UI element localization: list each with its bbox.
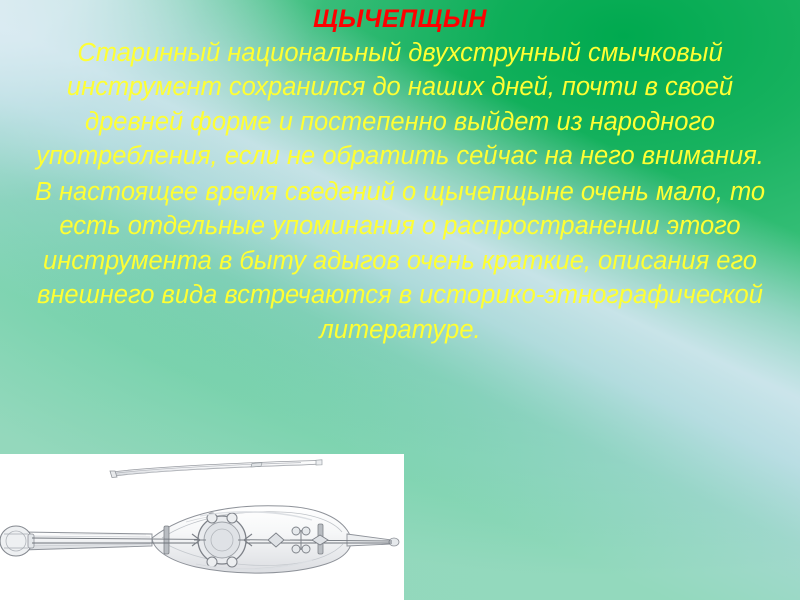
end-pin	[389, 538, 399, 546]
slide-content: ЩЫЧЕПЩЫН Старинный национальный двухстру…	[0, 0, 800, 347]
body-paragraph-1: Старинный национальный двухструнный смыч…	[0, 35, 800, 174]
nut	[28, 534, 34, 548]
bow-grip	[251, 463, 262, 467]
rosette-dot-top-right	[227, 513, 237, 523]
bow-group	[110, 460, 322, 478]
body-paragraph-2: В настоящее время сведений о щычепщыне о…	[0, 174, 800, 348]
tail-spike	[347, 534, 392, 546]
inlay-cluster	[290, 527, 312, 553]
bow-tip	[316, 460, 322, 465]
instrument-group	[0, 506, 399, 573]
pegbox	[0, 526, 32, 556]
rosette-dot-bottom-right	[227, 557, 237, 567]
instrument-picture	[0, 454, 404, 600]
slide-title: ЩЫЧЕПЩЫН	[0, 0, 800, 35]
upper-bridge	[164, 526, 169, 554]
rosette-dot-bottom-left	[207, 557, 217, 567]
shychepshchyn-drawing-svg	[0, 454, 404, 600]
presentation-slide: ЩЫЧЕПЩЫН Старинный национальный двухстру…	[0, 0, 800, 600]
